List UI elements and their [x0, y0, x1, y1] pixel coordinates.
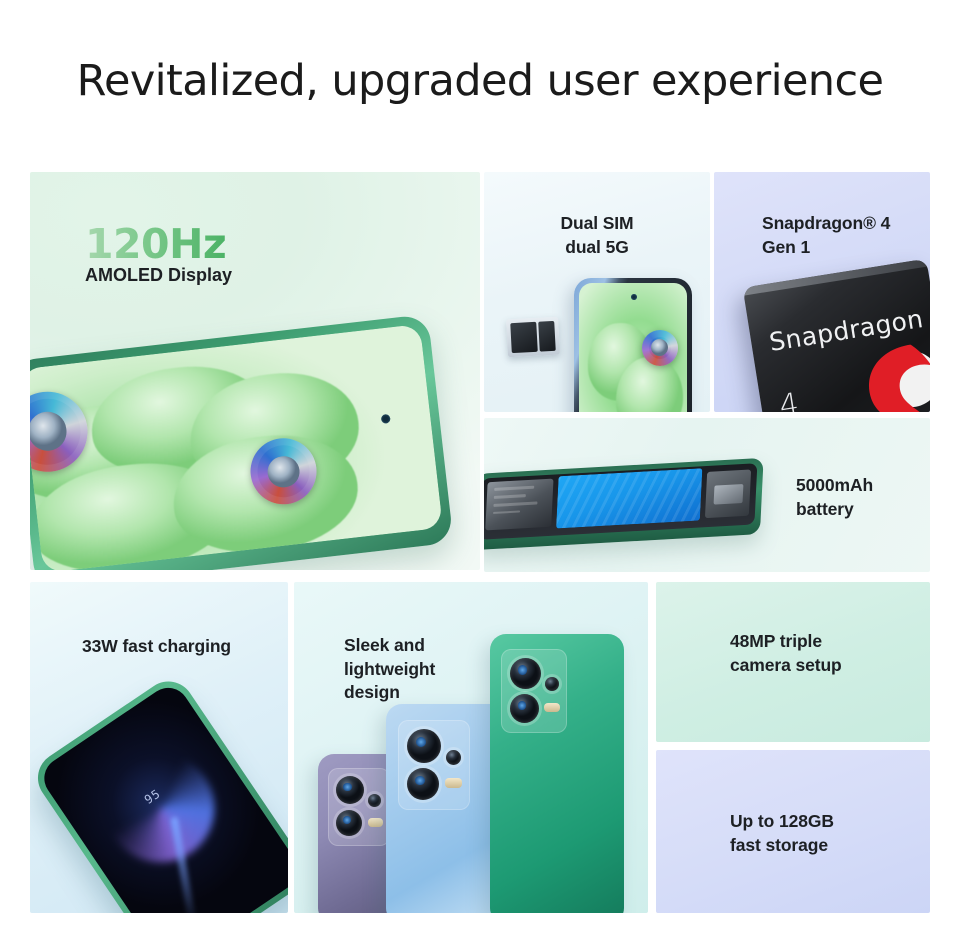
- feature-card-charging[interactable]: 95 33W fast charging: [30, 582, 288, 913]
- phone-green: [490, 634, 624, 913]
- camera-lens-macro: [446, 750, 461, 765]
- feature-card-camera[interactable]: 48MP triple camera setup: [656, 582, 930, 742]
- camera-module: [501, 649, 567, 733]
- feature-card-dual-sim[interactable]: Dual SIM dual 5G: [484, 172, 710, 412]
- charging-caption: 33W fast charging: [82, 635, 231, 659]
- mainboard-component: [485, 478, 554, 531]
- chip-edge: [743, 259, 928, 296]
- camera-caption: 48MP triple camera setup: [730, 630, 842, 677]
- feature-card-design[interactable]: Sleek and lightweight design: [294, 582, 648, 913]
- battery-caption: 5000mAh battery: [796, 474, 873, 521]
- design-caption: Sleek and lightweight design: [344, 634, 435, 705]
- punch-hole-camera-icon: [381, 414, 391, 424]
- camera-lens-wide: [407, 768, 439, 800]
- charging-phone-image: 95: [30, 671, 288, 913]
- snapdragon-chip-image: Snapdragon 4 Gen 1: [743, 259, 930, 412]
- camera-lens-macro: [545, 677, 559, 691]
- display-phone-screen: [30, 324, 443, 570]
- camera-flash-icon: [445, 778, 462, 788]
- camera-lens-wide: [336, 810, 362, 836]
- camera-lens-main: [407, 729, 441, 763]
- storage-caption: Up to 128GB fast storage: [730, 810, 834, 857]
- camera-module: [398, 720, 470, 810]
- camera-flash-icon: [544, 703, 560, 712]
- display-phone-image: [30, 314, 454, 570]
- product-feature-page: Revitalized, upgraded user experience 12…: [0, 0, 960, 949]
- charging-glow-graphic: [94, 742, 228, 876]
- feature-card-battery[interactable]: 5000mAh battery: [484, 418, 930, 572]
- camera-lens-wide: [510, 694, 539, 723]
- sim-card-primary: [510, 322, 538, 353]
- display-headline: 120Hz: [85, 220, 226, 268]
- display-subhead: AMOLED Display: [85, 265, 232, 286]
- camera-module: [328, 768, 390, 846]
- sim-tray-icon: [506, 317, 560, 358]
- feature-card-processor[interactable]: Snapdragon® 4 Gen 1 Snapdragon 4 Gen 1: [714, 172, 930, 412]
- sim-card-secondary: [538, 321, 556, 352]
- dual-sim-caption: Dual SIM dual 5G: [484, 212, 710, 259]
- page-title: Revitalized, upgraded user experience: [0, 56, 960, 106]
- battery-cell: [556, 469, 702, 528]
- feature-card-display[interactable]: 120Hz AMOLED Display: [30, 172, 480, 570]
- battery-phone-image: [484, 458, 764, 550]
- feature-card-storage[interactable]: Up to 128GB fast storage: [656, 750, 930, 913]
- snapdragon-logo-icon: [843, 332, 930, 412]
- processor-caption: Snapdragon® 4 Gen 1: [762, 212, 890, 259]
- camera-lens-main: [510, 658, 541, 689]
- wallpaper-ring: [642, 330, 678, 366]
- camera-flash-icon: [368, 818, 383, 827]
- camera-lens-macro: [368, 794, 381, 807]
- punch-hole-camera-icon: [631, 294, 637, 300]
- camera-lens-main: [336, 776, 364, 804]
- dual-sim-phone-screen: [579, 283, 687, 412]
- phone-internals: [484, 463, 757, 540]
- dual-sim-phone-image: [574, 278, 692, 412]
- camera-module-component: [705, 470, 751, 519]
- charging-phone-screen: 95: [36, 680, 288, 913]
